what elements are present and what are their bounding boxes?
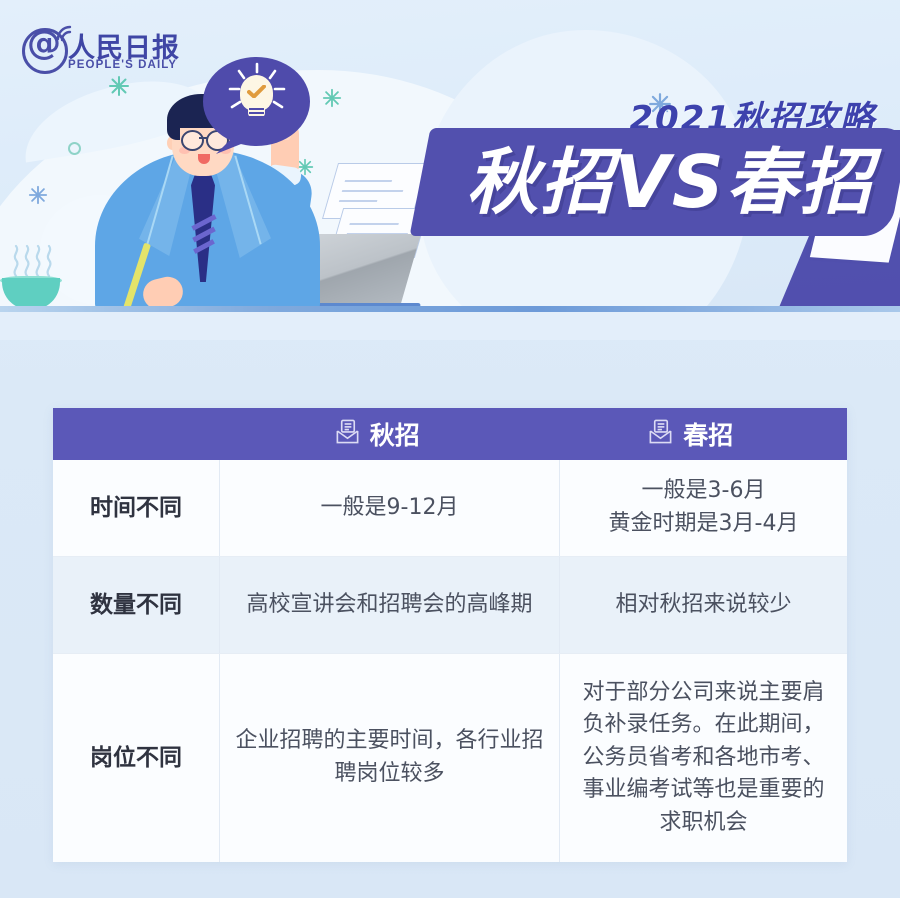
sparkle-icon xyxy=(322,88,342,108)
glasses-lens-left xyxy=(181,130,204,151)
poster-root: 人民日报 PEOPLE'S DAILY 2021秋招攻略 秋招VS春招 xyxy=(0,0,900,898)
row-label: 时间不同 xyxy=(53,460,220,556)
row-autumn-value: 一般是9-12月 xyxy=(220,460,560,556)
envelope-document-icon xyxy=(334,418,361,451)
sparkle-icon xyxy=(28,185,48,205)
check-mark-icon xyxy=(247,85,266,98)
row-spring-value: 一般是3-6月 黄金时期是3月-4月 xyxy=(560,460,847,556)
character-hair-side xyxy=(167,114,180,140)
table-row: 数量不同 高校宣讲会和招聘会的高峰期 相对秋招来说较少 xyxy=(53,557,847,654)
brand-logo[interactable]: 人民日报 PEOPLE'S DAILY xyxy=(22,26,168,80)
row-spring-value: 相对秋招来说较少 xyxy=(560,557,847,653)
table-header-autumn-label: 秋招 xyxy=(370,416,420,452)
dot-circle-decoration xyxy=(68,142,81,155)
desk-shadow xyxy=(0,312,900,340)
row-label: 数量不同 xyxy=(53,557,220,653)
steam-icon xyxy=(8,244,58,278)
row-spring-line2: 黄金时期是3月-4月 xyxy=(609,508,799,541)
page-title: 秋招VS春招 xyxy=(440,133,900,231)
lightbulb-base xyxy=(248,106,265,118)
envelope-document-icon xyxy=(647,418,674,451)
table-header-row: 秋招 春招 xyxy=(53,408,847,460)
brand-subtitle: PEOPLE'S DAILY xyxy=(68,59,177,71)
row-autumn-value: 企业招聘的主要时间，各行业招聘岗位较多 xyxy=(220,654,560,862)
table-header-spring-label: 春招 xyxy=(683,416,733,452)
row-autumn-value: 高校宣讲会和招聘会的高峰期 xyxy=(220,557,560,653)
row-label: 岗位不同 xyxy=(53,654,220,862)
glasses-bridge xyxy=(199,137,207,139)
table-header-spring: 春招 xyxy=(534,416,848,452)
table-row: 岗位不同 企业招聘的主要时间，各行业招聘岗位较多 对于部分公司来说主要肩负补录任… xyxy=(53,654,847,862)
row-spring-line1: 一般是3-6月 xyxy=(609,475,799,508)
row-spring-value: 对于部分公司来说主要肩负补录任务。在此期间，公务员省考和各地市考、事业编考试等也… xyxy=(560,654,847,862)
comparison-table: 秋招 春招 xyxy=(53,408,847,862)
table-row: 时间不同 一般是9-12月 一般是3-6月 黄金时期是3月-4月 xyxy=(53,460,847,557)
table-header-autumn: 秋招 xyxy=(220,416,534,452)
